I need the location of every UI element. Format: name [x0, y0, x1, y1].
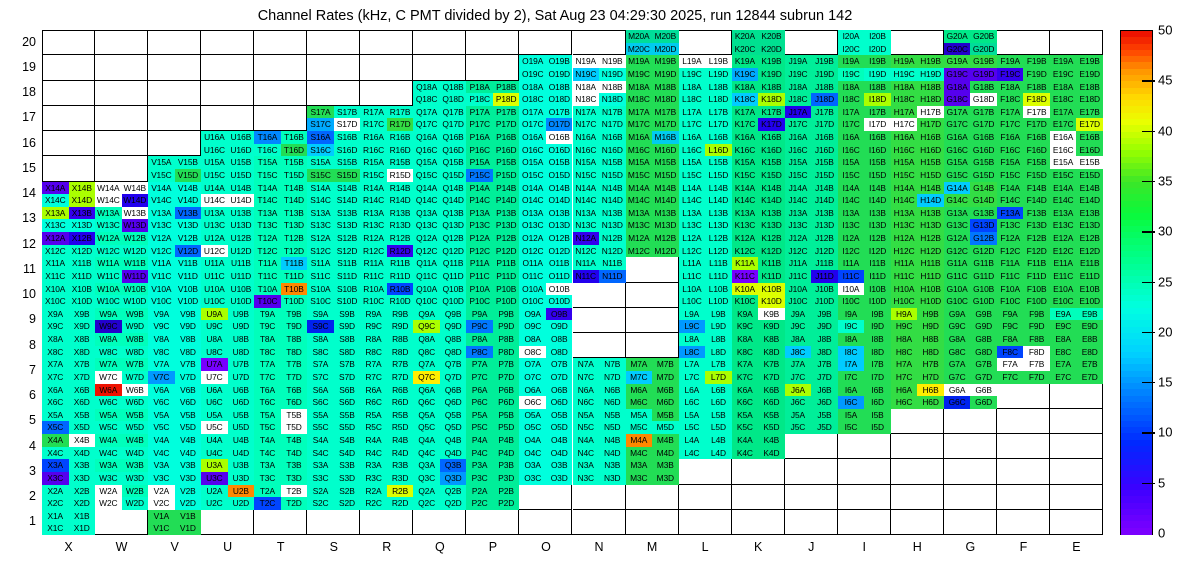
channel-label: F11B: [1027, 259, 1046, 267]
channel-tile: W12B: [122, 232, 149, 245]
channel-label: T12A: [258, 234, 278, 242]
channel-tile: F16B: [1023, 131, 1050, 144]
channel-label: O4A: [524, 436, 540, 444]
channel-tile: S4B: [334, 434, 361, 447]
channel-tile: V15D: [175, 169, 202, 182]
channel-label: U9A: [206, 310, 222, 318]
channel-label: N15D: [602, 171, 623, 179]
channel-label: W9D: [126, 322, 144, 330]
detector-cell: X8AX8BX8CX8D: [42, 333, 95, 358]
channel-tile: R6B: [387, 384, 414, 397]
channel-tile: F13A: [997, 207, 1024, 220]
channel-label: M3B: [657, 461, 674, 469]
channel-tile: T11D: [281, 270, 308, 283]
channel-label: V5C: [153, 423, 169, 431]
channel-tile: Q12C: [413, 245, 440, 258]
channel-tile: U14D: [228, 194, 255, 207]
detector-cell: H8AH8BH8CH8D: [891, 333, 944, 358]
channel-label: L17C: [682, 120, 702, 128]
channel-tile: F9B: [1023, 308, 1050, 321]
channel-tile: U9B: [228, 308, 255, 321]
channel-tile: J14D: [811, 194, 838, 207]
channel-label: T16C: [257, 146, 277, 154]
channel-label: W10A: [97, 285, 119, 293]
channel-tile: I11A: [838, 257, 865, 270]
channel-label: O14D: [548, 196, 569, 204]
channel-label: K12D: [761, 247, 782, 255]
colorbar-tick-mark: [1142, 231, 1155, 232]
detector-cell: H15AH15BH15CH15D: [891, 156, 944, 181]
channel-tile: I20D: [864, 43, 891, 56]
channel-label: W12D: [123, 247, 146, 255]
detector-cell-empty: [201, 81, 254, 106]
channel-tile: U3A: [201, 459, 228, 472]
channel-label: V11B: [178, 259, 197, 267]
channel-label: L19C: [682, 70, 702, 78]
channel-tile: I10C: [838, 295, 865, 308]
channel-label: X5C: [47, 423, 63, 431]
channel-label: X1D: [74, 524, 90, 532]
channel-label: W13C: [97, 221, 120, 229]
channel-tile: O4A: [519, 434, 546, 447]
colorbar-tick-mark: [1142, 432, 1155, 433]
channel-label: T10B: [284, 285, 304, 293]
channel-tile: X4C: [42, 447, 69, 460]
channel-tile: X11C: [42, 270, 69, 283]
channel-label: N14C: [575, 196, 596, 204]
channel-label: G19B: [973, 57, 994, 65]
channel-tile: T6A: [254, 384, 281, 397]
channel-tile: R4B: [387, 434, 414, 447]
channel-tile: N12B: [599, 232, 626, 245]
channel-label: T4A: [260, 436, 275, 444]
channel-tile: G18D: [970, 93, 997, 106]
channel-label: P14A: [470, 184, 490, 192]
channel-tile: P5A: [466, 409, 493, 422]
channel-label: O18C: [522, 95, 543, 103]
channel-tile: T10B: [281, 283, 308, 296]
channel-tile: S12C: [307, 245, 334, 258]
channel-tile: K8C: [732, 346, 759, 359]
channel-tile: S2C: [307, 497, 334, 510]
channel-tile: L17C: [679, 118, 706, 131]
channel-tile: G8B: [970, 333, 997, 346]
channel-label: H12C: [894, 247, 915, 255]
channel-tile: M3C: [626, 472, 653, 485]
channel-label: W4D: [126, 449, 144, 457]
channel-label: P7C: [472, 373, 488, 381]
detector-cell: I15AI15BI15CI15D: [838, 156, 891, 181]
channel-tile: R11C: [360, 270, 387, 283]
channel-label: V12A: [151, 234, 171, 242]
channel-tile: P6D: [493, 396, 520, 409]
channel-tile: E7A: [1050, 358, 1077, 371]
channel-tile: Q8A: [413, 333, 440, 346]
channel-tile: P17A: [466, 106, 493, 119]
channel-tile: P3A: [466, 459, 493, 472]
channel-tile: H17C: [891, 118, 918, 131]
channel-tile: M3B: [652, 459, 679, 472]
channel-label: H11B: [921, 259, 941, 267]
channel-label: H11D: [920, 272, 940, 280]
detector-cell: N11AN11BN11CN11D: [573, 257, 626, 282]
y-axis-tick-label: 18: [6, 85, 36, 99]
channel-label: J6B: [817, 386, 831, 394]
channel-label: R9A: [366, 310, 382, 318]
channel-tile: H17D: [917, 118, 944, 131]
channel-label: U10D: [230, 297, 251, 305]
channel-tile: O15B: [546, 156, 573, 169]
channel-tile: V9D: [175, 320, 202, 333]
channel-label: K16D: [761, 146, 782, 154]
channel-label: F8C: [1002, 348, 1018, 356]
channel-label: V4A: [154, 436, 170, 444]
channel-label: W8B: [126, 335, 144, 343]
channel-tile: J15D: [811, 169, 838, 182]
channel-tile: K9A: [732, 308, 759, 321]
detector-cell: G6AG6BG6CG6D: [944, 384, 997, 409]
channel-label: X11C: [45, 272, 65, 280]
channel-tile: T15D: [281, 169, 308, 182]
channel-label: I12B: [869, 234, 886, 242]
detector-cell: Q6AQ6BQ6CQ6D: [413, 384, 466, 409]
channel-label: I11C: [843, 272, 860, 280]
channel-label: M7C: [630, 373, 647, 381]
channel-label: P6B: [498, 386, 514, 394]
channel-tile: T6C: [254, 396, 281, 409]
channel-label: K15A: [735, 158, 755, 166]
channel-label: I16B: [869, 133, 886, 141]
channel-label: G7B: [975, 360, 991, 368]
channel-tile: J6D: [811, 396, 838, 409]
channel-tile: L18C: [679, 93, 706, 106]
channel-tile: O7D: [546, 371, 573, 384]
channel-label: V14C: [151, 196, 172, 204]
channel-tile: X14B: [69, 182, 96, 195]
channel-tile: J19C: [785, 68, 812, 81]
channel-tile: T5C: [254, 421, 281, 434]
detector-cell: K19AK19BK19CK19D: [732, 55, 785, 80]
channel-label: Q6C: [418, 398, 435, 406]
channel-label: T2C: [260, 499, 276, 507]
channel-tile: H11A: [891, 257, 918, 270]
detector-cell: M12AM12BM12CM12D: [626, 232, 679, 257]
channel-tile: W8A: [95, 333, 122, 346]
channel-tile: O11A: [519, 257, 546, 270]
channel-label: R9C: [365, 322, 381, 330]
channel-label: N19C: [575, 70, 596, 78]
channel-label: Q15A: [416, 158, 437, 166]
detector-cell-empty: [997, 30, 1050, 55]
channel-tile: L19A: [679, 55, 706, 68]
channel-label: F17C: [1000, 120, 1020, 128]
channel-tile: T4A: [254, 434, 281, 447]
channel-label: H14A: [894, 184, 915, 192]
detector-cell-empty: [891, 459, 944, 484]
channel-tile: L14D: [705, 194, 732, 207]
channel-label: N3A: [578, 461, 594, 469]
channel-tile: P12B: [493, 232, 520, 245]
channel-label: V10D: [178, 297, 199, 305]
channel-label: X5A: [47, 411, 63, 419]
channel-tile: M7C: [626, 371, 653, 384]
detector-cell-empty: [679, 485, 732, 510]
channel-label: J10C: [788, 297, 807, 305]
channel-label: N12A: [575, 234, 596, 242]
channel-tile: K16C: [732, 144, 759, 157]
channel-tile: H14A: [891, 182, 918, 195]
channel-tile: K18A: [732, 81, 759, 94]
channel-tile: N4A: [573, 434, 600, 447]
channel-label: K11A: [735, 259, 754, 267]
channel-tile: O15C: [519, 169, 546, 182]
detector-cell-empty: [997, 434, 1050, 459]
channel-tile: J8A: [785, 333, 812, 346]
channel-label: S10D: [337, 297, 358, 305]
channel-label: Q13B: [443, 209, 464, 217]
channel-tile: V14C: [148, 194, 175, 207]
channel-tile: N19B: [599, 55, 626, 68]
channel-label: V9D: [180, 322, 196, 330]
channel-tile: S5C: [307, 421, 334, 434]
detector-cell-empty: [413, 30, 466, 55]
channel-tile: O13D: [546, 219, 573, 232]
channel-tile: P5D: [493, 421, 520, 434]
channel-tile: H6B: [917, 384, 944, 397]
channel-label: K18A: [735, 83, 755, 91]
channel-tile: F10A: [997, 283, 1024, 296]
channel-label: M19A: [628, 57, 649, 65]
channel-tile: J9C: [785, 320, 812, 333]
channel-tile: U11D: [228, 270, 255, 283]
channel-tile: V13C: [148, 219, 175, 232]
channel-label: K10C: [735, 297, 756, 305]
detector-cell: U11AU11BU11CU11D: [201, 257, 254, 282]
channel-tile: P9A: [466, 308, 493, 321]
channel-label: O6B: [551, 386, 567, 394]
channel-label: Q17C: [416, 120, 437, 128]
channel-tile: V11C: [148, 270, 175, 283]
channel-label: T7C: [260, 373, 276, 381]
channel-label: U12C: [204, 247, 225, 255]
channel-tile: M19D: [652, 68, 679, 81]
detector-cell: I18AI18BI18CI18D: [838, 81, 891, 106]
channel-label: H6B: [923, 386, 939, 394]
x-axis-tick-label: L: [679, 540, 732, 554]
channel-tile: X4D: [69, 447, 96, 460]
channel-tile: P4D: [493, 447, 520, 460]
channel-tile: X9A: [42, 308, 69, 321]
channel-label: X14B: [72, 184, 92, 192]
channel-label: O7D: [551, 373, 568, 381]
channel-tile: M12A: [626, 232, 653, 245]
channel-label: H12D: [920, 247, 941, 255]
channel-tile: H15D: [917, 169, 944, 182]
x-axis-tick-label: S: [307, 540, 360, 554]
channel-tile: R4D: [387, 447, 414, 460]
channel-label: O4B: [551, 436, 567, 444]
channel-tile: S3A: [307, 459, 334, 472]
channel-tile: T8A: [254, 333, 281, 346]
channel-label: X6A: [47, 386, 63, 394]
channel-tile: S11B: [334, 257, 361, 270]
channel-tile: Q8C: [413, 346, 440, 359]
colorbar-tick-label: 10: [1158, 425, 1172, 440]
channel-label: L12C: [682, 247, 702, 255]
channel-tile: P7B: [493, 358, 520, 371]
channel-label: H19B: [920, 57, 941, 65]
channel-tile: R8B: [387, 333, 414, 346]
channel-tile: G14D: [970, 194, 997, 207]
channel-label: X12A: [45, 234, 65, 242]
channel-label: W10D: [123, 297, 146, 305]
channel-label: H17A: [894, 108, 915, 116]
channel-label: Q13D: [442, 221, 463, 229]
channel-label: S10B: [337, 285, 357, 293]
channel-label: J6C: [791, 398, 806, 406]
channel-label: F11C: [1000, 272, 1019, 280]
channel-label: N19B: [602, 57, 623, 65]
channel-label: I6B: [871, 386, 883, 394]
channel-label: J13B: [815, 209, 834, 217]
channel-tile: U8B: [228, 333, 255, 346]
channel-tile: O11B: [546, 257, 573, 270]
channel-label: T2B: [286, 487, 301, 495]
channel-tile: T3A: [254, 459, 281, 472]
detector-cell: G19AG19BG19CG19D: [944, 55, 997, 80]
channel-tile: G8A: [944, 333, 971, 346]
channel-label: Q5D: [445, 423, 462, 431]
channel-tile: W7C: [95, 371, 122, 384]
channel-tile: R11B: [387, 257, 414, 270]
channel-tile: I14B: [864, 182, 891, 195]
channel-tile: I11B: [864, 257, 891, 270]
channel-tile: N5A: [573, 409, 600, 422]
channel-tile: O17B: [546, 106, 573, 119]
channel-tile: I18B: [864, 81, 891, 94]
channel-tile: E16B: [1076, 131, 1103, 144]
colorbar-tick-mark: [1142, 80, 1155, 81]
channel-tile: S14C: [307, 194, 334, 207]
channel-label: I17C: [842, 120, 859, 128]
channel-tile: Q17D: [440, 118, 467, 131]
channel-tile: W3D: [122, 472, 149, 485]
channel-label: F15A: [1000, 158, 1020, 166]
colorbar-tick-mark: [1142, 382, 1155, 383]
detector-cell: K20AK20BK20CK20D: [732, 30, 785, 55]
channel-label: R14A: [363, 184, 384, 192]
channel-tile: Q3A: [413, 459, 440, 472]
detector-cell: W6AW6BW6CW6D: [95, 384, 148, 409]
channel-label: W2A: [99, 487, 117, 495]
channel-tile: P18D: [493, 93, 520, 106]
channel-label: R15D: [390, 171, 411, 179]
channel-label: G12D: [973, 247, 994, 255]
channel-label: U10A: [204, 285, 225, 293]
channel-tile: O18B: [546, 81, 573, 94]
detector-cell-empty: [1050, 459, 1103, 484]
channel-label: R14D: [390, 196, 411, 204]
x-axis-tick-label: E: [1050, 540, 1103, 554]
y-axis-tick-label: 16: [6, 136, 36, 150]
channel-label: U13C: [204, 221, 225, 229]
channel-tile: J19B: [811, 55, 838, 68]
channel-tile: X1C: [42, 522, 69, 535]
channel-label: O16B: [549, 133, 570, 141]
channel-label: O13B: [549, 209, 570, 217]
channel-tile: R9B: [387, 308, 414, 321]
channel-tile: H11D: [917, 270, 944, 283]
channel-tile: K10D: [758, 295, 785, 308]
channel-label: G9A: [949, 310, 965, 318]
channel-tile: S4A: [307, 434, 334, 447]
channel-label: P9C: [472, 322, 488, 330]
y-axis-tick-label: 3: [6, 464, 36, 478]
channel-tile: Q16D: [440, 144, 467, 157]
channel-tile: J5B: [811, 409, 838, 422]
channel-label: P18A: [470, 83, 490, 91]
channel-label: I7C: [845, 373, 858, 381]
channel-label: P15D: [496, 171, 517, 179]
channel-label: I10D: [869, 297, 886, 305]
channel-tile: T6D: [281, 396, 308, 409]
detector-cell-empty: [95, 106, 148, 131]
channel-tile: S7A: [307, 358, 334, 371]
channel-label: L8B: [711, 335, 726, 343]
channel-label: L15B: [709, 158, 728, 166]
channel-label: L16B: [709, 133, 728, 141]
channel-label: T13D: [284, 221, 304, 229]
channel-label: L14D: [709, 196, 729, 204]
channel-label: O8B: [551, 335, 567, 343]
channel-label: M20C: [628, 45, 650, 53]
detector-cell: L7AL7BL7CL7D: [679, 358, 732, 383]
channel-tile: L18A: [679, 81, 706, 94]
channel-label: L16C: [682, 146, 702, 154]
channel-tile: J11B: [811, 257, 838, 270]
detector-cell: W7AW7BW7CW7D: [95, 358, 148, 383]
channel-label: J9D: [817, 322, 832, 330]
channel-label: G10D: [973, 297, 994, 305]
channel-tile: W9D: [122, 320, 149, 333]
channel-tile: O16C: [519, 144, 546, 157]
channel-tile: M18C: [626, 93, 653, 106]
channel-label: H16D: [920, 146, 941, 154]
channel-tile: V6C: [148, 396, 175, 409]
detector-cell: U12AU12BU12CU12D: [201, 232, 254, 257]
detector-cell: N14AN14BN14CN14D: [573, 182, 626, 207]
channel-tile: O15D: [546, 169, 573, 182]
channel-label: M5A: [630, 411, 647, 419]
channel-label: J13C: [788, 221, 807, 229]
channel-label: J10B: [815, 285, 834, 293]
channel-tile: I16A: [838, 131, 865, 144]
detector-cell: S13AS13BS13CS13D: [307, 207, 360, 232]
channel-label: W14B: [124, 184, 146, 192]
channel-label: N14B: [602, 184, 623, 192]
channel-label: R14B: [390, 184, 411, 192]
channel-tile: R8D: [387, 346, 414, 359]
channel-tile: I11C: [838, 270, 865, 283]
channel-tile: V1A: [148, 510, 175, 523]
channel-tile: O3D: [546, 472, 573, 485]
channel-tile: S7D: [334, 371, 361, 384]
channel-tile: W11A: [95, 257, 122, 270]
channel-tile: K6B: [758, 384, 785, 397]
channel-tile: X10D: [69, 295, 96, 308]
channel-tile: V15A: [148, 156, 175, 169]
channel-label: E17A: [1053, 108, 1073, 116]
